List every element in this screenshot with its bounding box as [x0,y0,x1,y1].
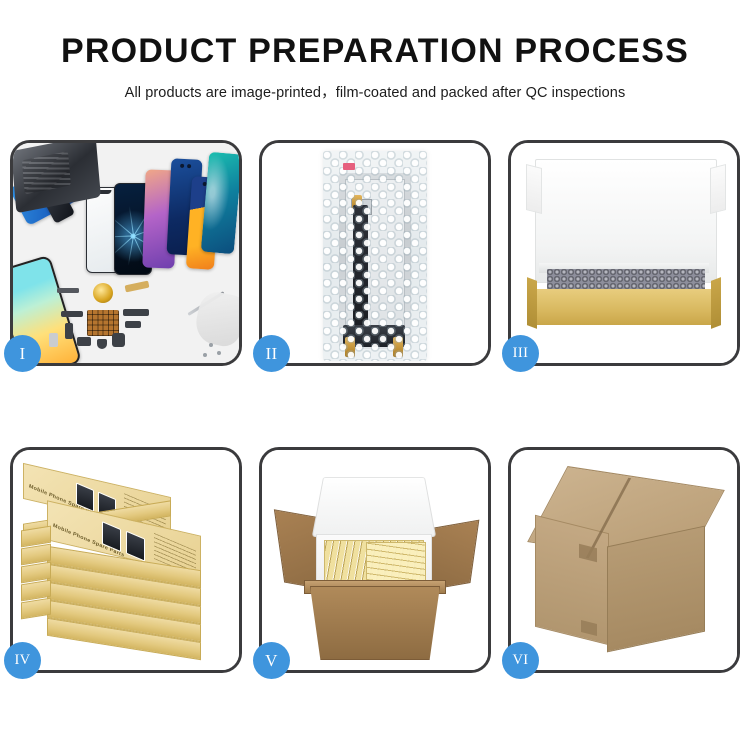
step-card-4[interactable]: Mobile Phone Spare Parts Mobile Phone Sp… [10,447,242,673]
part-sim-tray-icon [49,333,58,347]
part-flex-b-icon [65,323,73,339]
step-numeral-6: VI [512,652,528,669]
step-badge-6: VI [502,642,539,679]
part-flex-e-icon [125,321,141,328]
part-coil-icon [93,283,113,303]
part-flex-gold-icon [125,281,150,293]
step-numeral-4: IV [14,652,30,669]
phone-parts-photo [13,143,239,363]
screw-icon [203,353,207,357]
step-card-2[interactable]: II [259,140,491,366]
box-screen-print-icon [126,531,145,562]
carton-open-photo [262,450,488,670]
page-title: PRODUCT PREPARATION PROCESS [0,34,750,70]
step-numeral-5: V [265,651,278,671]
process-step-grid: I II [10,140,740,673]
foam-lid-icon [312,477,436,537]
gold-box-base-icon [533,289,715,325]
page-subtitle: All products are image-printed，film-coat… [0,81,750,102]
foam-box-photo [511,143,737,363]
stacked-boxes-photo: Mobile Phone Spare Parts Mobile Phone Sp… [13,450,239,670]
step-numeral-3: III [513,345,529,362]
step-image-5 [262,450,488,670]
phone-teal-icon [201,152,239,254]
step-image-3 [511,143,737,363]
step-card-6[interactable]: VI [508,447,740,673]
step-numeral-1: I [19,344,25,364]
step-badge-5: V [253,642,290,679]
bubble-wrap-bag-icon [323,151,427,361]
step-badge-3: III [502,335,539,372]
step-badge-4: IV [4,642,41,679]
bubble-texture-icon [323,151,427,361]
part-flex-c-icon [77,337,91,346]
pink-label-icon [343,163,355,170]
step-image-4: Mobile Phone Spare Parts Mobile Phone Sp… [13,450,239,670]
part-flex-d-icon [123,309,149,316]
step-badge-2: II [253,335,290,372]
box-stack-icon: Mobile Phone Spare Parts Mobile Phone Sp… [21,474,237,664]
sealed-carton-photo [511,450,737,670]
part-flex-a-icon [61,311,83,317]
part-camera-icon [112,333,125,347]
step-card-5[interactable]: V [259,447,491,673]
step-image-6 [511,450,737,670]
screw-icon [217,351,221,355]
step-numeral-2: II [265,344,277,364]
hand-icon [192,289,239,349]
step-image-1 [13,143,239,363]
step-card-1[interactable]: I [10,140,242,366]
step-image-2 [262,143,488,363]
screw-icon [209,343,213,347]
carton-right-face-icon [607,526,705,653]
carton-body-icon [310,586,440,660]
part-chip-icon [57,288,79,293]
bubble-wrap-photo [262,143,488,363]
step-badge-1: I [4,335,41,372]
step-card-3[interactable]: III [508,140,740,366]
part-button-icon [97,339,107,349]
page-header: PRODUCT PREPARATION PROCESS All products… [0,0,750,102]
